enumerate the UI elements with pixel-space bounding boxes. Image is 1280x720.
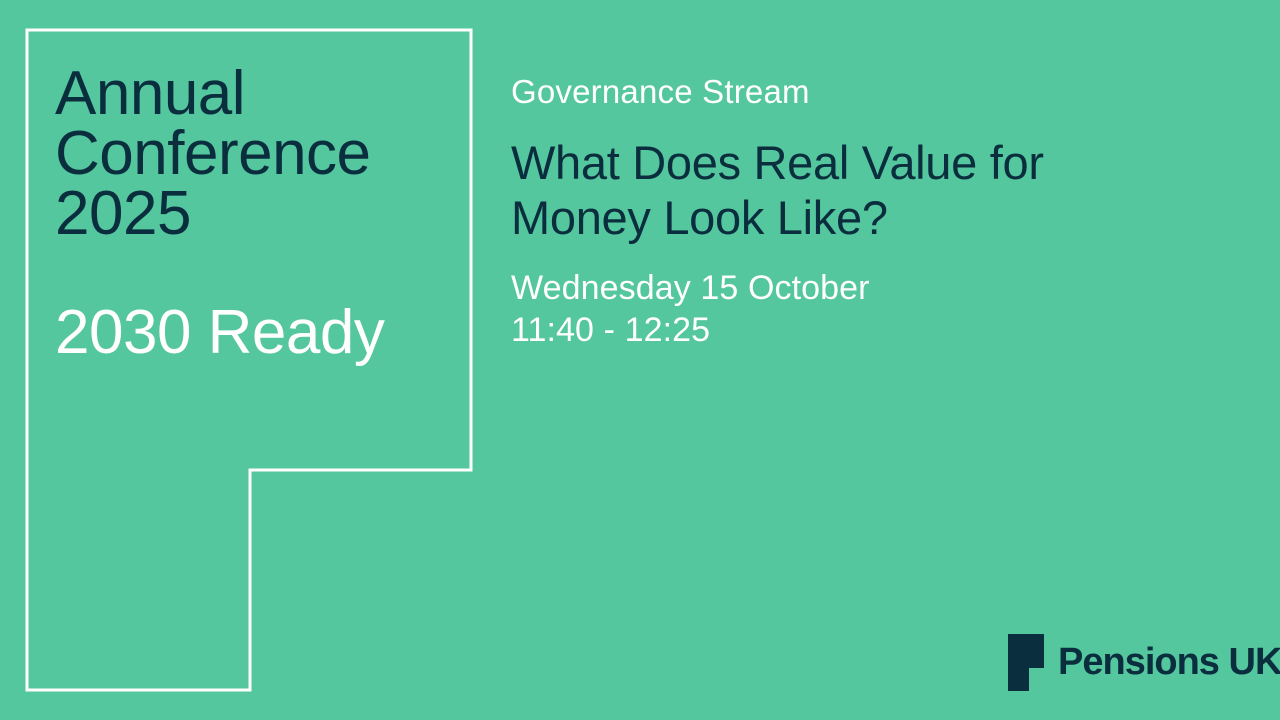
pensions-uk-logo: Pensions UK — [1008, 634, 1280, 691]
conference-name: Annual Conference 2025 — [55, 64, 455, 244]
session-datetime: Wednesday 15 October 11:40 - 12:25 — [511, 245, 1211, 351]
pensions-uk-p-mark-icon — [1008, 634, 1044, 691]
session-stream-label: Governance Stream — [511, 72, 1211, 112]
pensions-uk-wordmark: Pensions UK — [1058, 643, 1280, 681]
session-block: Governance Stream What Does Real Value f… — [511, 72, 1211, 351]
conference-strapline: 2030 Ready — [55, 244, 455, 363]
session-title: What Does Real Value for Money Look Like… — [511, 112, 1211, 245]
conference-session-slide: Annual Conference 2025 2030 Ready Govern… — [0, 0, 1280, 720]
branding-block: Annual Conference 2025 2030 Ready — [55, 64, 455, 363]
